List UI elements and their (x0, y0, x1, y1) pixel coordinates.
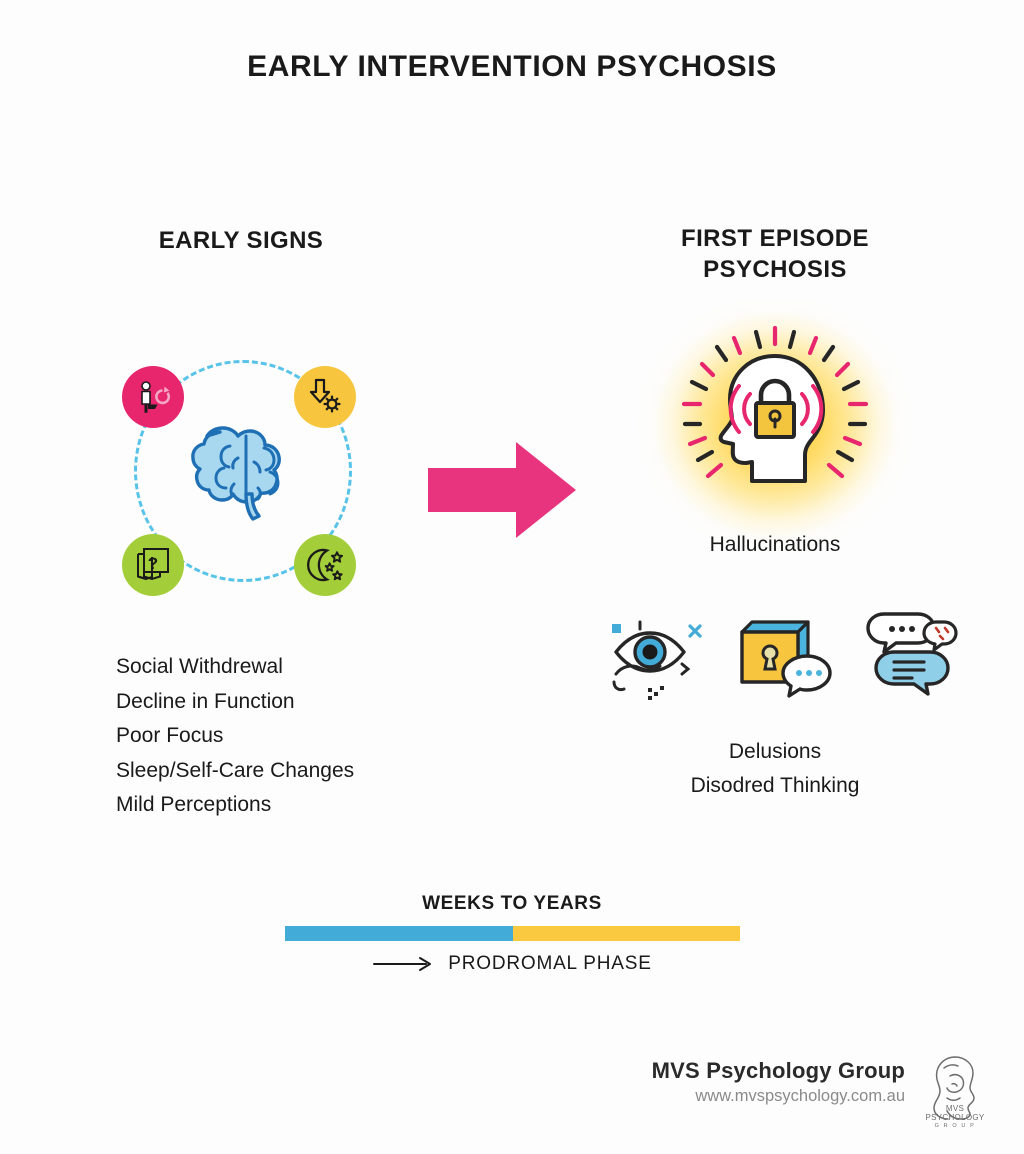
brand-name: MVS Psychology Group (560, 1058, 905, 1084)
locked-box-speech-glyph (728, 608, 836, 708)
list-item: Mild Perceptions (116, 788, 456, 823)
right-arrow-line-icon (372, 956, 434, 972)
symptom-label: Delusions (620, 735, 930, 769)
footer: MVS Psychology Group www.mvspsychology.c… (560, 1058, 990, 1138)
list-item: Sleep/Self-Care Changes (116, 754, 456, 789)
head-with-lock-icon (668, 316, 882, 530)
book-question-glyph: ? (133, 545, 173, 585)
social-withdrawal-icon (122, 366, 184, 428)
timeline-section: WEEKS TO YEARS PRODROMAL PHASE (0, 893, 1024, 993)
logo-wordmark: MVS PSYCHOLOGY G R O U P (915, 1104, 995, 1129)
logo-line-3: G R O U P (915, 1123, 995, 1129)
sleep-changes-icon (294, 534, 356, 596)
infographic-canvas: EARLY INTERVENTION PSYCHOSIS EARLY SIGNS (0, 0, 1024, 1154)
svg-text:?: ? (148, 554, 158, 573)
list-item: Poor Focus (116, 719, 456, 754)
prodromal-phase-row: PRODROMAL PHASE (0, 953, 1024, 975)
early-signs-list: Social Withdrewal Decline in Function Po… (116, 650, 456, 823)
timeline-bar-late-segment (513, 926, 741, 941)
brand-url: www.mvspsychology.com.au (560, 1087, 905, 1106)
eye-icon (604, 608, 712, 708)
timeline-bar (285, 926, 740, 941)
prodromal-phase-label: PRODROMAL PHASE (448, 953, 651, 975)
symptom-label: Disodred Thinking (620, 769, 930, 803)
timeline-bar-early-segment (285, 926, 513, 941)
weeks-to-years-label: WEEKS TO YEARS (0, 893, 1024, 915)
logo-line-2: PSYCHOLOGY (915, 1113, 995, 1122)
hallucinations-block: Hallucinations (620, 300, 930, 590)
person-clock-glyph (133, 377, 173, 417)
locked-box-speech-icon (728, 608, 836, 708)
list-item: Decline in Function (116, 685, 456, 720)
speech-bubbles-glyph (850, 608, 958, 708)
speech-bubbles-icon (850, 608, 958, 708)
page-title: EARLY INTERVENTION PSYCHOSIS (0, 50, 1024, 84)
eye-glyph (604, 608, 712, 708)
early-signs-heading: EARLY SIGNS (100, 227, 382, 255)
early-signs-icon-cluster: ? (108, 338, 380, 610)
first-episode-psychosis-heading: FIRST EPISODE PSYCHOSIS (620, 223, 930, 285)
moon-stars-glyph (304, 544, 346, 586)
symptom-labels: Delusions Disodred Thinking (620, 735, 930, 803)
fep-heading-line1: FIRST EPISODE (620, 223, 930, 254)
footer-text: MVS Psychology Group www.mvspsychology.c… (560, 1058, 905, 1106)
hallucinations-label: Hallucinations (620, 533, 930, 557)
right-arrow-icon (428, 440, 578, 540)
poor-focus-icon: ? (122, 534, 184, 596)
fep-heading-line2: PSYCHOSIS (620, 254, 930, 285)
symptom-icon-row (598, 608, 953, 708)
list-item: Social Withdrewal (116, 650, 456, 685)
brain-icon (180, 406, 312, 538)
logo-line-1: MVS (915, 1104, 995, 1113)
